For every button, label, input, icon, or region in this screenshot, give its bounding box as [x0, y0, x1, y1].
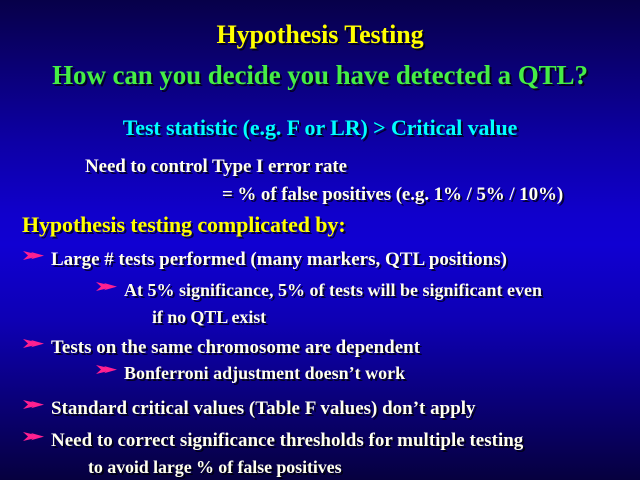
list-item: At 5% significance, 5% of tests will be …: [95, 281, 542, 299]
list-item-label: Bonferroni adjustment doesn’t work: [124, 364, 405, 382]
list-item-label: Tests on the same chromosome are depende…: [51, 338, 420, 357]
double-chevron-arrow-icon: [22, 430, 46, 444]
list-item-label: At 5% significance, 5% of tests will be …: [124, 281, 542, 299]
double-chevron-arrow-icon: [95, 363, 119, 377]
list-item: Bonferroni adjustment doesn’t work: [95, 364, 405, 382]
slide-subtitle: How can you decide you have detected a Q…: [0, 62, 640, 89]
double-chevron-arrow-icon: [22, 398, 46, 412]
type-one-error-line: Need to control Type I error rate: [85, 157, 347, 176]
list-item: Need to correct significance thresholds …: [22, 431, 523, 450]
test-statistic-heading: Test statistic (e.g. F or LR) > Critical…: [0, 117, 640, 139]
double-chevron-arrow-icon: [95, 280, 119, 294]
complicated-by-heading: Hypothesis testing complicated by:: [22, 214, 346, 236]
list-item-label: Need to correct significance thresholds …: [51, 431, 523, 450]
double-chevron-arrow-icon: [22, 249, 46, 263]
list-item-label: Large # tests performed (many markers, Q…: [51, 250, 507, 269]
slide-canvas: Hypothesis Testing How can you decide yo…: [0, 0, 640, 480]
false-positives-line: = % of false positives (e.g. 1% / 5% / 1…: [222, 185, 563, 204]
list-item: Tests on the same chromosome are depende…: [22, 338, 420, 357]
list-item-continuation: to avoid large % of false positives: [88, 458, 341, 476]
list-item: Standard critical values (Table F values…: [22, 399, 476, 418]
list-item-continuation: if no QTL exist: [152, 308, 266, 326]
slide-title: Hypothesis Testing: [0, 22, 640, 48]
list-item-label: Standard critical values (Table F values…: [51, 399, 476, 418]
list-item: Large # tests performed (many markers, Q…: [22, 250, 507, 269]
double-chevron-arrow-icon: [22, 337, 46, 351]
